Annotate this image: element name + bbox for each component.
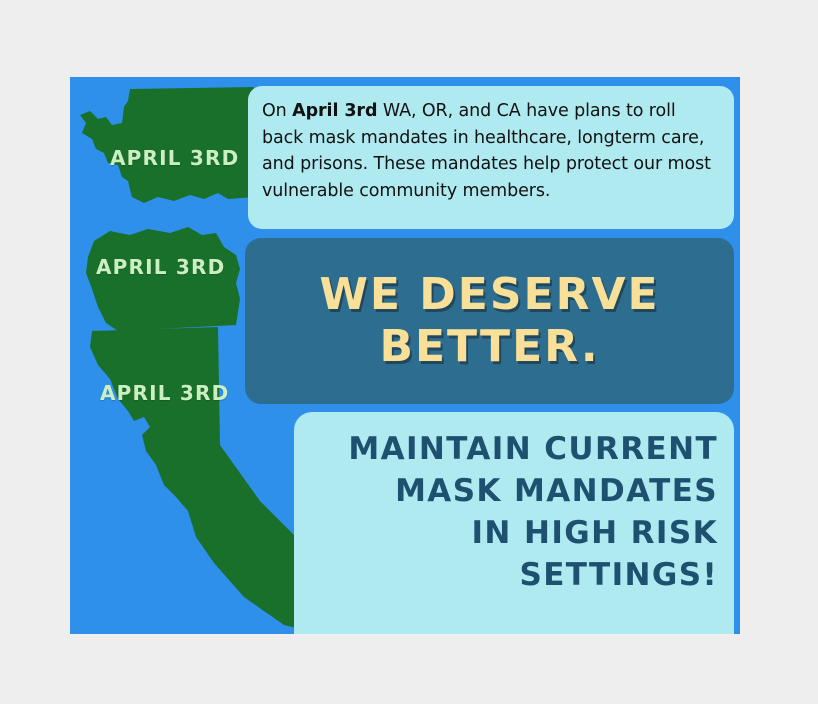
call-to-action-panel: MAINTAIN CURRENT MASK MANDATES IN HIGH R… (294, 412, 734, 634)
washington-state-shape (78, 85, 260, 220)
headline-line-1: WE DESERVE (319, 269, 659, 321)
intro-text-panel: On April 3rd WA, OR, and CA have plans t… (248, 86, 734, 229)
intro-lead-in: On (262, 101, 292, 121)
intro-paragraph: On April 3rd WA, OR, and CA have plans t… (262, 98, 718, 204)
oregon-state-shape (84, 225, 246, 335)
headline-line-2: BETTER. (379, 321, 599, 373)
cta-line-2: MASK MANDATES (308, 470, 718, 512)
headline-panel: WE DESERVE BETTER. (245, 238, 734, 404)
cta-line-1: MAINTAIN CURRENT (308, 428, 718, 470)
cta-line-4: SETTINGS! (308, 554, 718, 596)
infographic-poster: APRIL 3RD APRIL 3RD APRIL 3RD On April 3… (70, 77, 740, 634)
cta-line-3: IN HIGH RISK (308, 512, 718, 554)
intro-date-bold: April 3rd (292, 101, 377, 121)
